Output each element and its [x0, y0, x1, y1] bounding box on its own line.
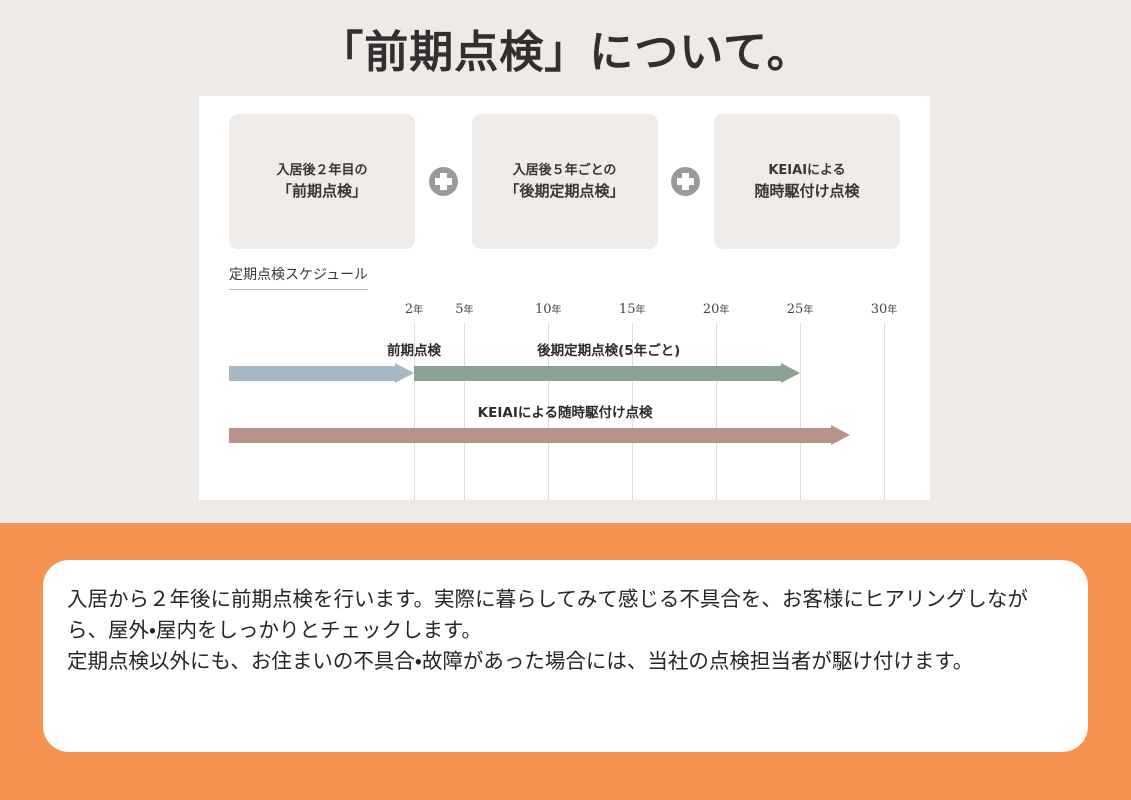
arrow-head	[831, 425, 850, 445]
tick-label-year-15: 15年	[619, 301, 646, 317]
note-card: 入居から２年後に前期点検を行います。実際に暮らしてみて感じる不具合を、お客様にヒ…	[43, 560, 1088, 752]
info-box-oncall-inspection: KEIAIによる 随時駆付け点検	[714, 114, 900, 249]
info-box-line1: KEIAIによる	[768, 161, 845, 181]
info-box-line2: 「前期点検」	[277, 180, 367, 203]
info-box-early-inspection: 入居後２年目の 「前期点検」	[229, 114, 415, 249]
gridline-year-25	[800, 323, 801, 500]
page-title: 「前期点検」について。	[0, 16, 1131, 80]
tick-unit: 年	[719, 305, 729, 316]
tick-number: 15	[619, 302, 636, 317]
tick-number: 20	[703, 302, 720, 317]
tick-unit: 年	[887, 305, 897, 316]
tick-label-year-20: 20年	[703, 301, 730, 317]
tick-number: 30	[871, 302, 888, 317]
tick-label-year-2: 2年	[405, 301, 423, 317]
tick-number: 10	[535, 302, 552, 317]
info-box-line2: 「後期定期点検」	[504, 180, 624, 203]
inspection-types-row: 入居後２年目の 「前期点検」 入居後５年ごとの 「後期定期点検」 KEIAIによ…	[229, 114, 900, 249]
tick-label-year-30: 30年	[871, 301, 898, 317]
note-paragraph-2: 定期点検以外にも、お住まいの不具合・故障があった場合には、当社の点検担当者が駆け…	[67, 646, 1060, 677]
arrow-head	[781, 363, 800, 383]
timeline-arrow-label-0: 前期点検	[387, 339, 441, 359]
tick-unit: 年	[803, 305, 813, 316]
arrow-shaft	[414, 366, 782, 381]
tick-label-year-5: 5年	[455, 301, 473, 317]
arrow-head	[395, 363, 414, 383]
gridline-year-30	[884, 323, 885, 500]
tick-label-year-10: 10年	[535, 301, 562, 317]
info-box-line2: 随時駆付け点検	[754, 180, 859, 203]
gridline-year-5	[464, 323, 465, 500]
info-box-line1: 入居後５年ごとの	[513, 161, 617, 181]
timeline-arrow-2	[229, 425, 850, 446]
diagram-panel: 入居後２年目の 「前期点検」 入居後５年ごとの 「後期定期点検」 KEIAIによ…	[199, 96, 930, 500]
note-paragraph-1: 入居から２年後に前期点検を行います。実際に暮らしてみて感じる不具合を、お客様にヒ…	[67, 584, 1060, 646]
arrow-shaft	[229, 366, 396, 381]
tick-number: 25	[787, 302, 804, 317]
schedule-timeline-chart: 2年5年10年15年20年25年30年前期点検後期定期点検(5年ごと)KEIAI…	[199, 301, 930, 500]
tick-label-year-25: 25年	[787, 301, 814, 317]
gridline-year-20	[716, 323, 717, 500]
tick-unit: 年	[463, 305, 473, 316]
tick-unit: 年	[413, 305, 423, 316]
arrow-shaft	[229, 428, 832, 443]
schedule-section-title: 定期点検スケジュール	[229, 264, 368, 290]
tick-unit: 年	[635, 305, 645, 316]
tick-unit: 年	[552, 305, 562, 316]
top-section: 「前期点検」について。 入居後２年目の 「前期点検」 入居後５年ごとの 「後期定…	[0, 0, 1131, 523]
plus-icon	[429, 167, 458, 196]
timeline-arrow-0	[229, 363, 414, 384]
bottom-orange-band: 入居から２年後に前期点検を行います。実際に暮らしてみて感じる不具合を、お客様にヒ…	[0, 523, 1131, 800]
info-box-periodic-inspection: 入居後５年ごとの 「後期定期点検」	[472, 114, 658, 249]
plus-icon	[671, 167, 700, 196]
timeline-arrow-label-2: KEIAIによる随時駆付け点検	[478, 401, 653, 421]
timeline-arrow-1	[414, 363, 800, 384]
info-box-line1: 入居後２年目の	[276, 161, 367, 181]
timeline-arrow-label-1: 後期定期点検(5年ごと)	[537, 339, 680, 359]
